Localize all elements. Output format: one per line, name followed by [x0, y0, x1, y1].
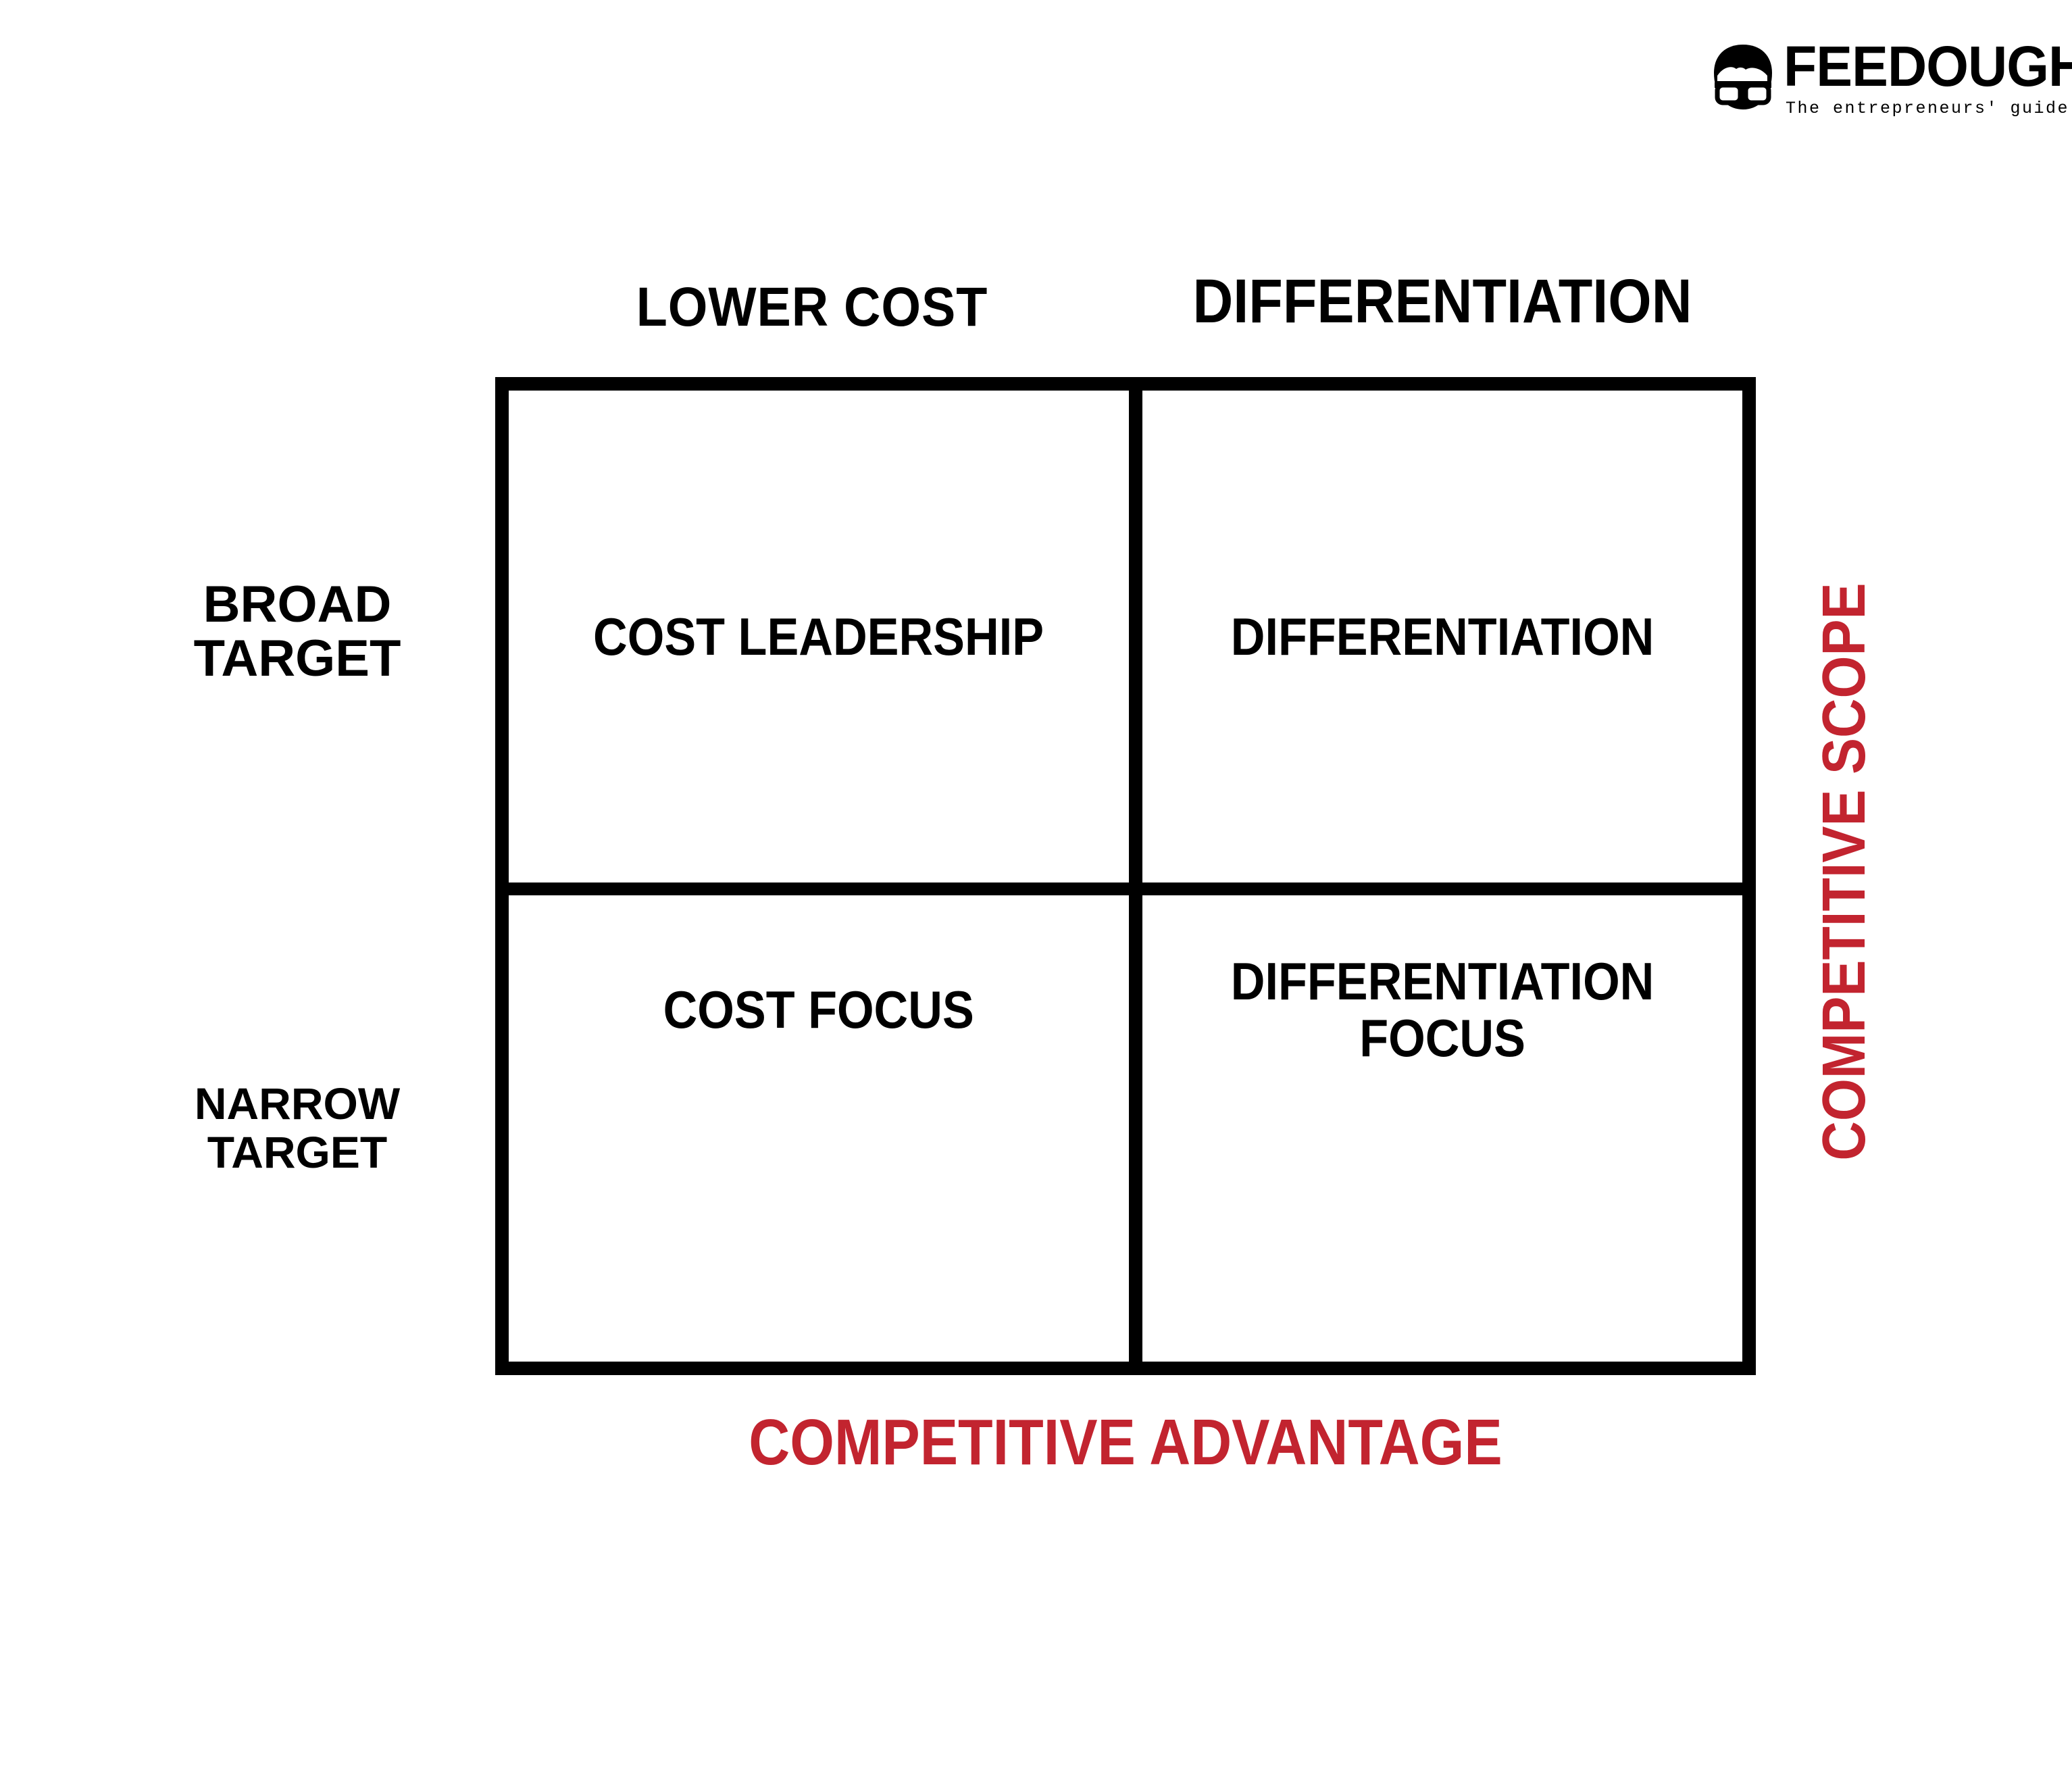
- matrix-inner: COST LEADERSHIP DIFFERENTIATION COST FOC…: [509, 391, 1742, 1362]
- quadrant-label-cost-leadership: COST LEADERSHIP: [594, 607, 1044, 666]
- row-label-broad-target: BROAD TARGET: [108, 578, 486, 686]
- axis-label-competitive-scope-wrapper: COMPETITIVE SCOPE: [1784, 500, 1905, 1243]
- quadrant-label-differentiation-focus: DIFFERENTIATION FOCUS: [1231, 953, 1654, 1066]
- porters-generic-strategies-diagram: FEEDOUGH .COM The entrepreneurs' guide L…: [0, 0, 2072, 1765]
- matrix-horizontal-divider: [509, 882, 1742, 895]
- quadrant-label-cost-focus: COST FOCUS: [663, 980, 974, 1039]
- axis-label-competitive-advantage: COMPETITIVE ADVANTAGE: [571, 1409, 1680, 1476]
- column-header-lower-cost: LOWER COST: [521, 278, 1104, 337]
- quadrant-cost-focus: COST FOCUS: [509, 895, 1129, 1362]
- strategy-matrix: COST LEADERSHIP DIFFERENTIATION COST FOC…: [495, 377, 1756, 1375]
- quadrant-label-differentiation: DIFFERENTIATION: [1231, 607, 1654, 666]
- matrix-vertical-divider: [1129, 391, 1142, 1362]
- feedough-wordmark-block: FEEDOUGH .COM The entrepreneurs' guide: [1784, 35, 2072, 118]
- quadrant-differentiation-focus: DIFFERENTIATION FOCUS: [1142, 895, 1742, 1362]
- quadrant-cost-leadership: COST LEADERSHIP: [509, 391, 1129, 882]
- axis-label-competitive-scope: COMPETITIVE SCOPE: [1812, 582, 1877, 1160]
- quadrant-differentiation: DIFFERENTIATION: [1142, 391, 1742, 882]
- feedough-tagline: The entrepreneurs' guide: [1786, 99, 2072, 118]
- row-label-narrow-target: NARROW TARGET: [108, 1079, 486, 1176]
- column-header-differentiation: DIFFERENTIATION: [1160, 269, 1724, 334]
- feedough-logo: FEEDOUGH .COM The entrepreneurs' guide: [1708, 35, 2066, 136]
- feedough-face-icon: [1708, 42, 1778, 112]
- feedough-wordmark: FEEDOUGH: [1784, 35, 2072, 97]
